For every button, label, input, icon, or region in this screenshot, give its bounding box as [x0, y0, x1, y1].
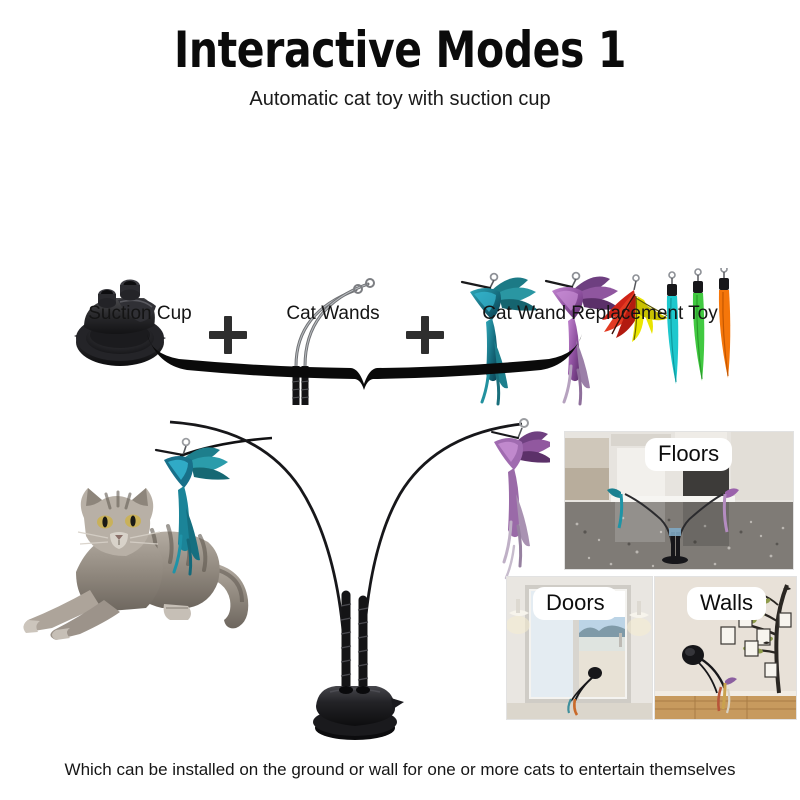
panel-label-floors: Floors [645, 438, 732, 471]
panel-floors[interactable]: Floors [564, 431, 794, 570]
product-infographic: Interactive Modes 1 Automatic cat toy wi… [0, 0, 800, 800]
component-label-replacement-toy: Cat Wand Replacement Toy [450, 302, 750, 326]
brace-connector [145, 332, 585, 392]
panel-doors[interactable]: Doors [506, 576, 653, 720]
panel-label-doors: Doors [533, 587, 618, 620]
component-label-cat-wands: Cat Wands [243, 302, 423, 326]
page-subtitle: Automatic cat toy with suction cup [0, 86, 800, 112]
panel-label-walls: Walls [687, 587, 766, 620]
assembled-product [150, 410, 550, 740]
footer-caption: Which can be installed on the ground or … [0, 758, 800, 782]
components-row [0, 130, 800, 300]
component-label-suction-cup: Suction Cup [40, 302, 240, 326]
panel-walls[interactable]: Walls [654, 576, 797, 720]
page-title: Interactive Modes 1 [72, 22, 728, 78]
